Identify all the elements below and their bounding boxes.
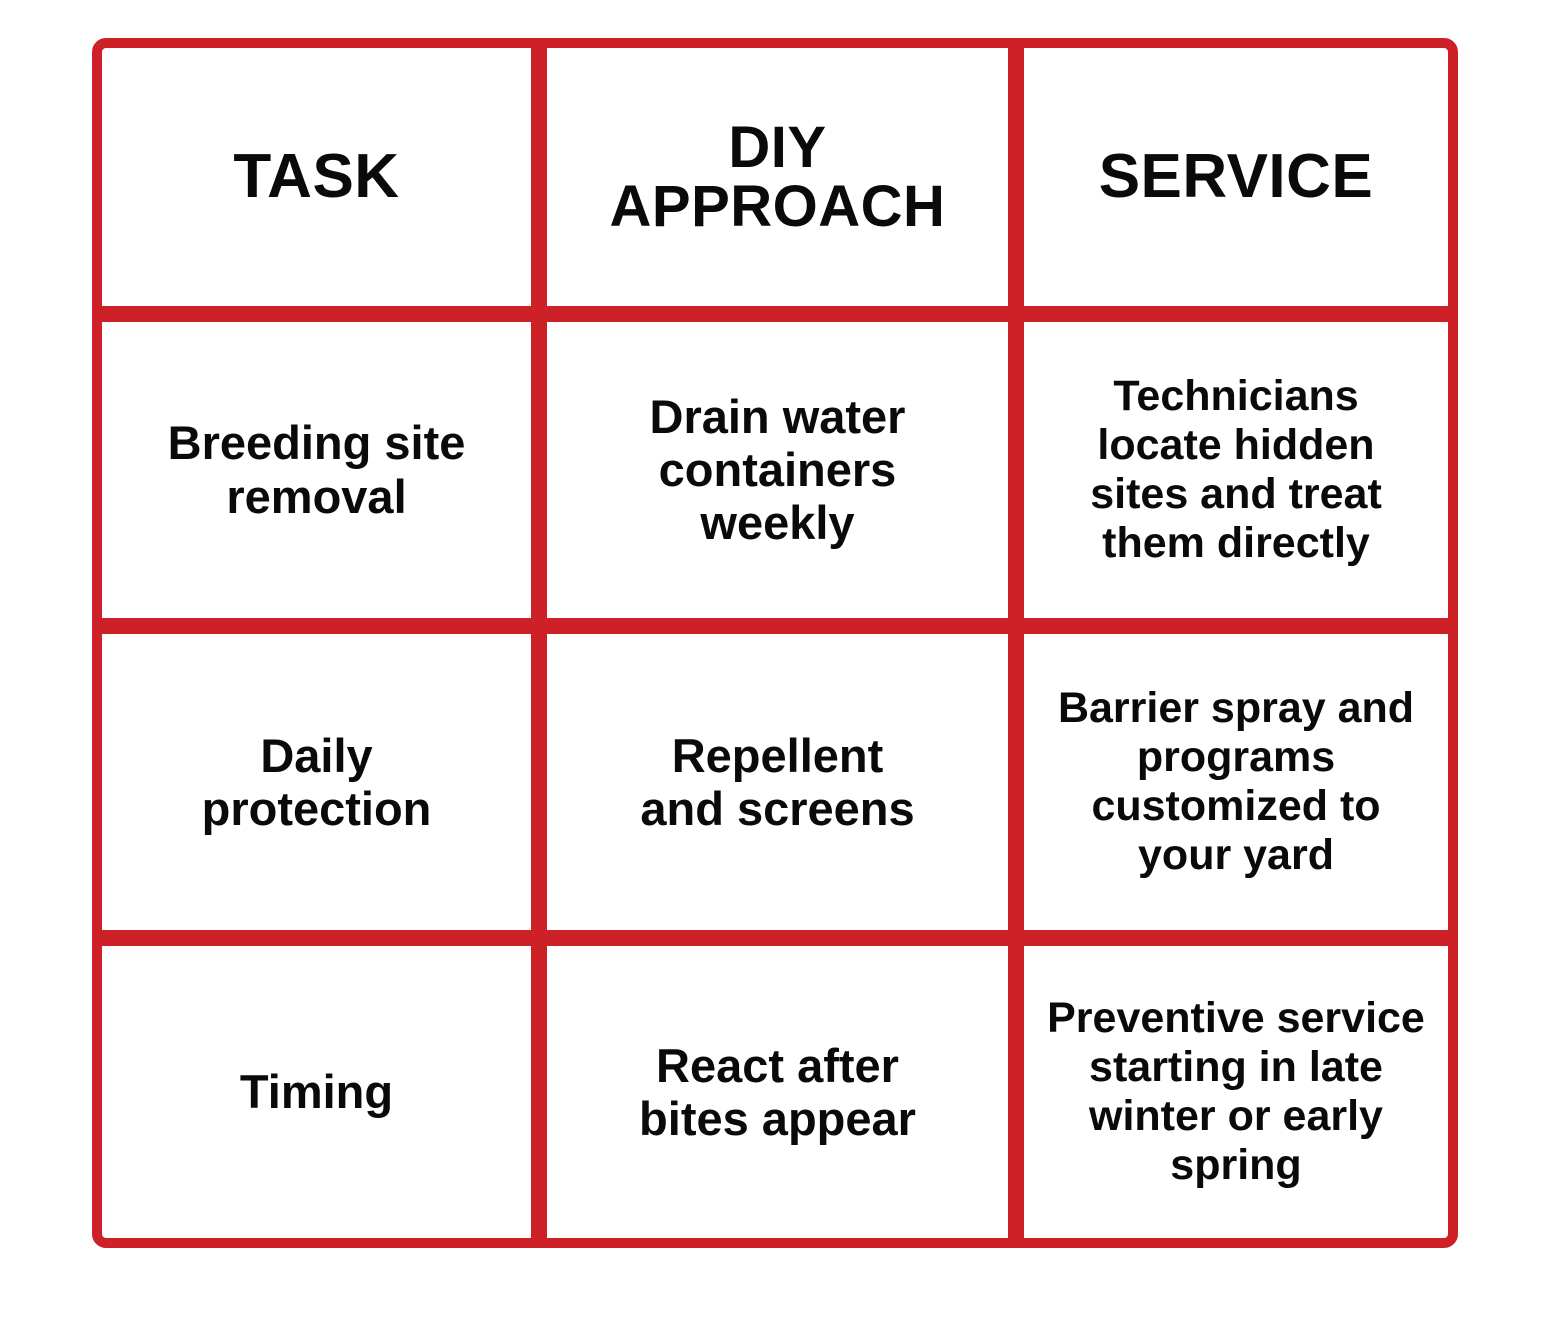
row-divider-1: [102, 618, 1448, 634]
column-divider-1: [531, 322, 547, 618]
column-divider-1: [531, 634, 547, 930]
table-row: Breeding site removal Drain water contai…: [102, 322, 1448, 618]
row-divider-2: [102, 930, 1448, 946]
column-divider-2: [1008, 322, 1024, 618]
cell-text-task-row-3: Timing: [240, 1065, 393, 1118]
cell-text-diy-approach-row-2: Repellent and screens: [640, 729, 914, 835]
header-cell-service: SERVICE: [1024, 48, 1448, 306]
header-cell-task: TASK: [102, 48, 531, 306]
column-divider-2: [1008, 946, 1024, 1238]
cell-task-row-1: Breeding site removal: [102, 322, 531, 618]
cell-diy-approach-row-1: Drain water containers weekly: [547, 322, 1008, 618]
column-header-label-service: SERVICE: [1099, 145, 1374, 208]
row-divider-header: [102, 306, 1448, 322]
column-header-label-diy-approach: DIY APPROACH: [610, 118, 946, 236]
column-divider-1: [531, 946, 547, 1238]
header-cell-diy-approach: DIY APPROACH: [547, 48, 1008, 306]
cell-service-row-2: Barrier spray and programs customized to…: [1024, 634, 1448, 930]
table-header-row: TASK DIY APPROACH SERVICE: [102, 48, 1448, 306]
cell-service-row-3: Preventive service starting in late wint…: [1024, 946, 1448, 1238]
cell-task-row-3: Timing: [102, 946, 531, 1238]
cell-text-task-row-1: Breeding site removal: [168, 416, 466, 522]
column-divider-2: [1008, 48, 1024, 306]
cell-task-row-2: Daily protection: [102, 634, 531, 930]
table-row: Daily protection Repellent and screens B…: [102, 634, 1448, 930]
cell-diy-approach-row-2: Repellent and screens: [547, 634, 1008, 930]
cell-text-service-row-3: Preventive service starting in late wint…: [1047, 994, 1425, 1190]
cell-service-row-1: Technicians locate hidden sites and trea…: [1024, 322, 1448, 618]
column-divider-2: [1008, 634, 1024, 930]
cell-text-task-row-2: Daily protection: [202, 729, 432, 835]
cell-text-diy-approach-row-3: React after bites appear: [639, 1039, 916, 1145]
table-row: Timing React after bites appear Preventi…: [102, 946, 1448, 1238]
column-divider-1: [531, 48, 547, 306]
column-header-label-task: TASK: [233, 145, 399, 208]
screenshot-canvas: TASK DIY APPROACH SERVICE Breeding site …: [0, 0, 1545, 1330]
cell-text-service-row-1: Technicians locate hidden sites and trea…: [1090, 372, 1382, 568]
cell-diy-approach-row-3: React after bites appear: [547, 946, 1008, 1238]
cell-text-service-row-2: Barrier spray and programs customized to…: [1058, 684, 1414, 880]
comparison-table: TASK DIY APPROACH SERVICE Breeding site …: [92, 38, 1458, 1248]
cell-text-diy-approach-row-1: Drain water containers weekly: [650, 390, 906, 549]
